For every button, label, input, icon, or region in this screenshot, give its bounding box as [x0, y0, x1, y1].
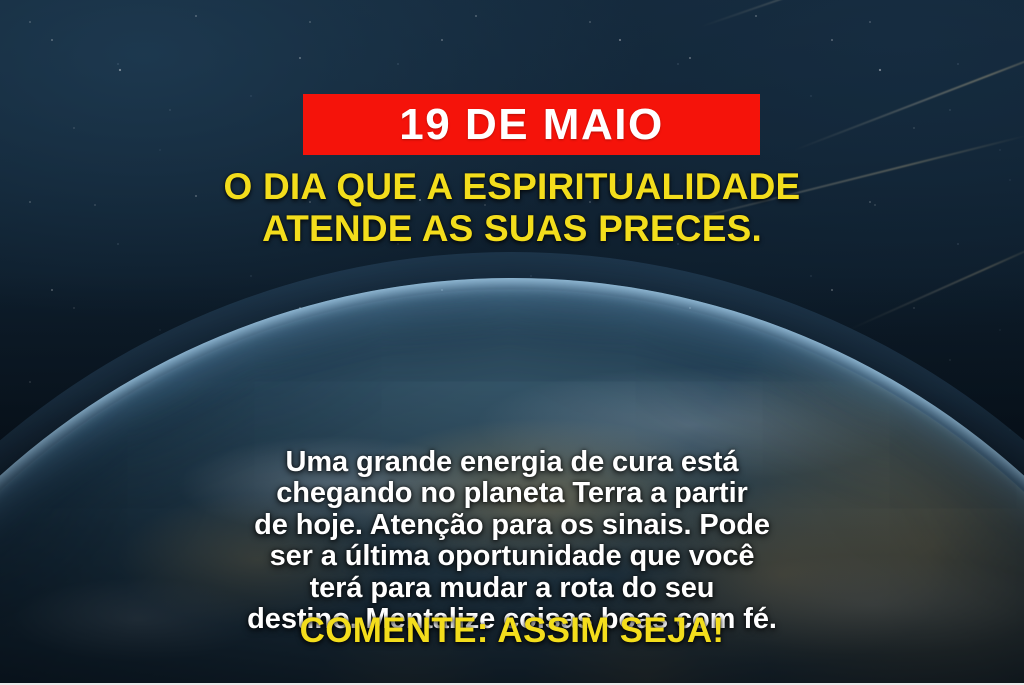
headline-line-2: ATENDE AS SUAS PRECES.	[40, 208, 984, 250]
date-banner-label: 19 DE MAIO	[399, 103, 663, 147]
headline: O DIA QUE A ESPIRITUALIDADE ATENDE AS SU…	[0, 166, 1024, 250]
body-line-5: terá para mudar a rota do seu	[52, 573, 972, 604]
body-line-4: ser a última oportunidade que você	[52, 541, 972, 572]
poster-content: 19 DE MAIO O DIA QUE A ESPIRITUALIDADE A…	[0, 0, 1024, 685]
headline-line-1: O DIA QUE A ESPIRITUALIDADE	[224, 166, 801, 207]
body-line-1: Uma grande energia de cura está	[52, 447, 972, 478]
body-line-2: chegando no planeta Terra a partir	[52, 478, 972, 509]
poster-image: 19 DE MAIO O DIA QUE A ESPIRITUALIDADE A…	[0, 0, 1024, 685]
body-line-3: de hoje. Atenção para os sinais. Pode	[52, 510, 972, 541]
date-banner: 19 DE MAIO	[303, 94, 760, 155]
call-to-action-text: COMENTE: ASSIM SEJA!	[0, 613, 1024, 648]
body-paragraph: Uma grande energia de cura está chegando…	[0, 447, 1024, 636]
